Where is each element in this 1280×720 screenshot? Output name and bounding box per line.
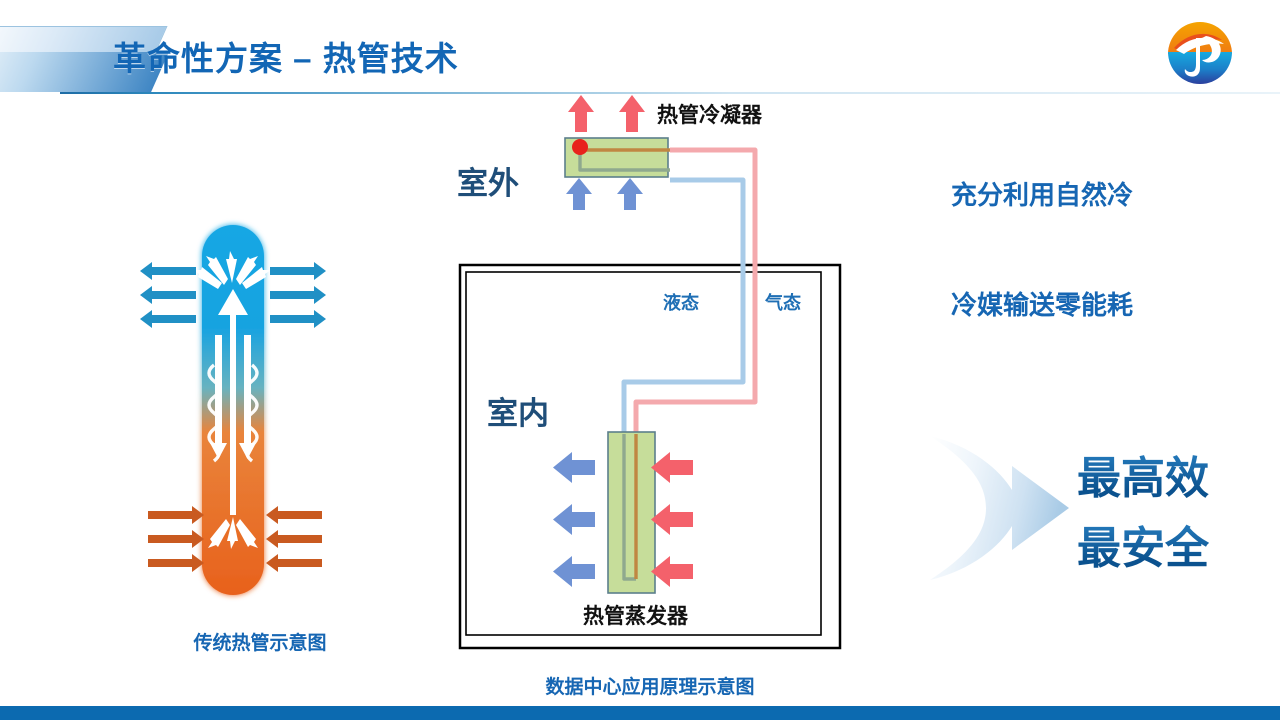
condenser-unit xyxy=(565,138,670,177)
classic-heat-pipe-figure xyxy=(140,215,370,605)
slide-root: 革命性方案 – 热管技术 xyxy=(0,0,1280,720)
footer-bar xyxy=(0,706,1280,720)
outdoor-air-arrows xyxy=(566,178,643,210)
benefit-text-1: 充分利用自然冷 xyxy=(951,175,1133,212)
evaporator-unit xyxy=(608,432,655,593)
company-globe-logo xyxy=(1164,18,1236,90)
center-figure-caption: 数据中心应用原理示意图 xyxy=(420,672,880,699)
label-condenser: 热管冷凝器 xyxy=(657,99,762,129)
heat-reject-arrows xyxy=(568,95,645,132)
result-arrow xyxy=(930,432,1070,584)
highlight-text-1: 最高效 xyxy=(1077,442,1209,506)
cool-air-arrows xyxy=(553,452,595,587)
condenser-marker-dot xyxy=(572,139,588,155)
label-indoor: 室内 xyxy=(487,388,549,433)
left-figure-caption: 传统热管示意图 xyxy=(150,628,370,655)
label-gas-state: 气态 xyxy=(765,289,801,315)
highlight-text-2: 最安全 xyxy=(1077,512,1209,576)
label-liquid-state: 液态 xyxy=(663,289,699,315)
page-title: 革命性方案 – 热管技术 xyxy=(113,32,459,80)
hot-air-arrows xyxy=(651,452,693,587)
label-evaporator: 热管蒸发器 xyxy=(583,600,688,630)
label-outdoor: 室外 xyxy=(457,158,519,203)
benefit-text-2: 冷媒输送零能耗 xyxy=(951,285,1133,322)
